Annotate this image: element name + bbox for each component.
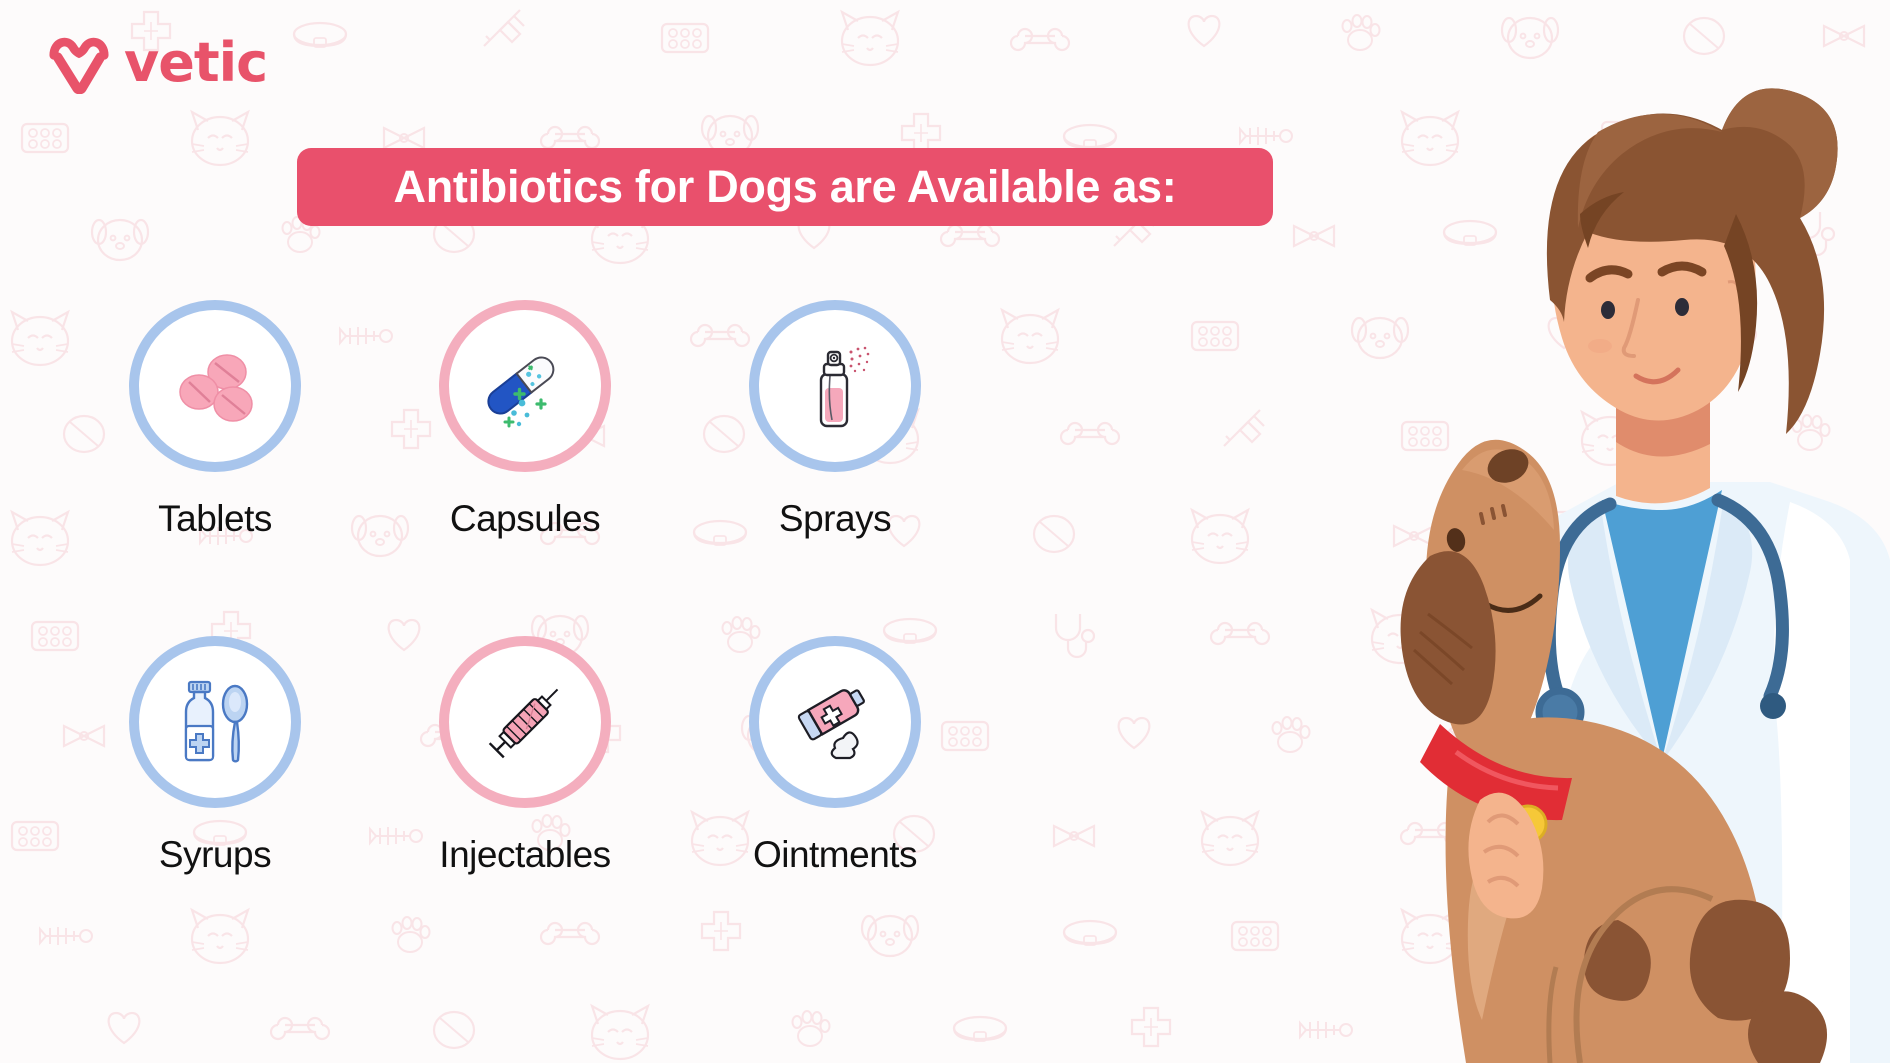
cell-label: Injectables <box>439 834 610 876</box>
sprays-circle <box>749 300 921 472</box>
cell-label: Capsules <box>450 498 600 540</box>
tablets-circle <box>129 300 301 472</box>
brand-logo[interactable]: vetic <box>48 32 267 94</box>
medication-forms-grid: Tablets <box>60 300 990 876</box>
grid-row-2: Syrups Injectables <box>60 636 990 876</box>
title-banner: Antibiotics for Dogs are Available as: <box>297 148 1273 226</box>
row-spacer <box>60 540 990 636</box>
capsules-circle <box>439 300 611 472</box>
heart-v-logo-icon <box>48 32 110 94</box>
ointment-tube-icon <box>785 672 885 772</box>
spray-bottle-icon <box>785 336 885 436</box>
grid-cell-capsules[interactable]: Capsules <box>370 300 680 540</box>
tablets-icon <box>165 336 265 436</box>
cell-label: Syrups <box>159 834 271 876</box>
grid-cell-injectables[interactable]: Injectables <box>370 636 680 876</box>
grid-cell-sprays[interactable]: Sprays <box>680 300 990 540</box>
cell-label: Tablets <box>158 498 272 540</box>
injectables-circle <box>439 636 611 808</box>
cell-label: Sprays <box>779 498 891 540</box>
grid-cell-syrups[interactable]: Syrups <box>60 636 370 876</box>
ointments-circle <box>749 636 921 808</box>
syrup-bottle-spoon-icon <box>165 672 265 772</box>
grid-row-1: Tablets <box>60 300 990 540</box>
cell-label: Ointments <box>753 834 917 876</box>
syrups-circle <box>129 636 301 808</box>
capsules-icon <box>475 336 575 436</box>
page-title: Antibiotics for Dogs are Available as: <box>394 161 1177 213</box>
grid-cell-ointments[interactable]: Ointments <box>680 636 990 876</box>
brand-name: vetic <box>124 36 267 90</box>
grid-cell-tablets[interactable]: Tablets <box>60 300 370 540</box>
syringe-icon <box>475 672 575 772</box>
